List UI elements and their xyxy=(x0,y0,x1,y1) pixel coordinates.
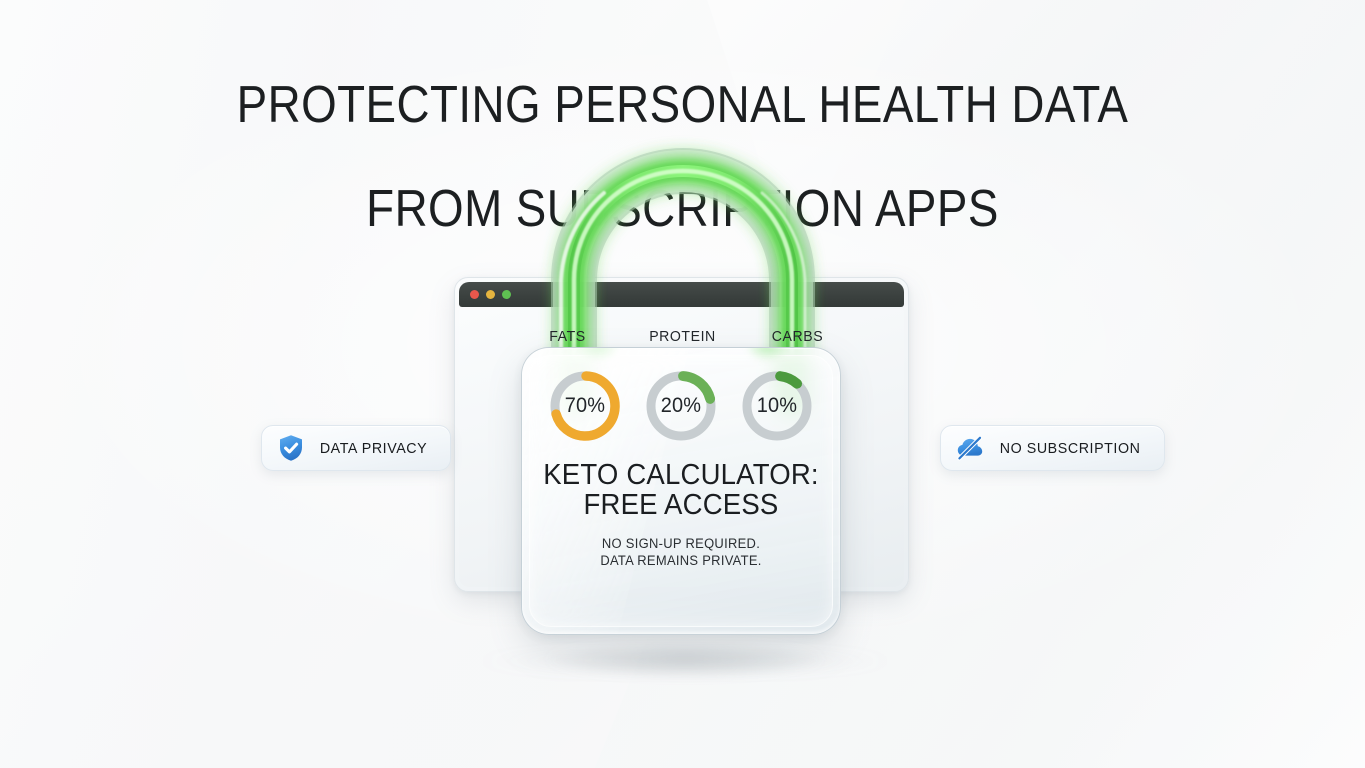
badge-data-privacy[interactable]: DATA PRIVACY xyxy=(261,425,451,471)
window-close-button[interactable] xyxy=(470,290,479,299)
badge-label-data-privacy: DATA PRIVACY xyxy=(320,440,427,457)
badge-no-subscription[interactable]: NO SUBSCRIPTION xyxy=(940,425,1165,471)
window-maximize-button[interactable] xyxy=(502,290,511,299)
illustration-stage: FATS PROTEIN CARBS xyxy=(0,0,1365,768)
shield-check-icon xyxy=(276,433,306,463)
padlock-body-card: 70% 20% 10% KETO CALCULATOR: xyxy=(521,347,841,635)
badge-label-no-subscription: NO SUBSCRIPTION xyxy=(1000,440,1141,457)
browser-titlebar xyxy=(459,282,904,307)
window-minimize-button[interactable] xyxy=(486,290,495,299)
card-subline: NO SIGN-UP REQUIRED. DATA REMAINS PRIVAT… xyxy=(528,535,833,569)
cloud-off-icon xyxy=(955,433,985,463)
donut-value-carbs: 10% xyxy=(739,366,815,446)
lock-ground-shadow xyxy=(545,640,825,678)
card-headline-line-1: KETO CALCULATOR: xyxy=(530,460,832,490)
donut-chart-carbs: 10% xyxy=(737,366,817,446)
donut-chart-protein: 20% xyxy=(641,366,721,446)
card-subline-line-1: NO SIGN-UP REQUIRED. xyxy=(528,535,833,552)
card-copy: KETO CALCULATOR: FREE ACCESS NO SIGN-UP … xyxy=(522,460,840,569)
donut-chart-fats: 70% xyxy=(545,366,625,446)
card-headline: KETO CALCULATOR: FREE ACCESS xyxy=(530,460,832,520)
card-subline-line-2: DATA REMAINS PRIVATE. xyxy=(528,552,833,569)
macro-donut-row: 70% 20% 10% xyxy=(522,366,840,446)
card-headline-line-2: FREE ACCESS xyxy=(530,490,832,520)
donut-value-protein: 20% xyxy=(643,366,719,446)
donut-value-fats: 70% xyxy=(547,366,623,446)
